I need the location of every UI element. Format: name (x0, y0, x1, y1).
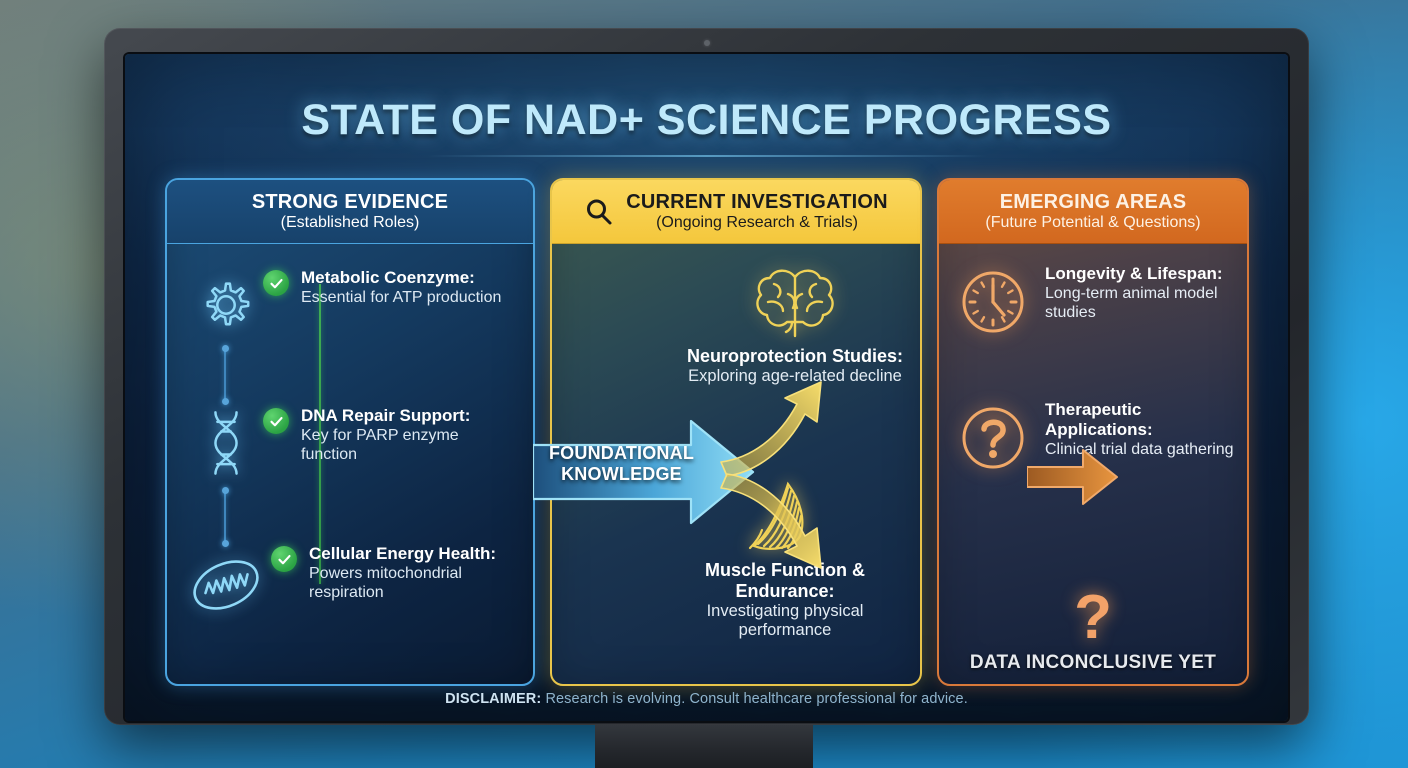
column-current-heading: CURRENT INVESTIGATION (626, 191, 888, 213)
clock-icon (955, 264, 1031, 340)
inconclusive-block: ? DATA INCONCLUSIVE YET (939, 590, 1247, 674)
monitor-frame: STATE OF NAD+ SCIENCE PROGRESS STRONG EV… (104, 28, 1309, 725)
check-icon (263, 270, 289, 296)
evidence-text: Metabolic Coenzyme: Essential for ATP pr… (301, 268, 501, 307)
evidence-title: Metabolic Coenzyme: (301, 268, 501, 288)
column-emerging-areas: EMERGING AREAS (Future Potential & Quest… (937, 178, 1249, 686)
title-block: STATE OF NAD+ SCIENCE PROGRESS (125, 96, 1288, 157)
disclaimer-prefix: DISCLAIMER: (445, 691, 541, 707)
dna-helix-icon (189, 406, 263, 480)
evidence-text: Cellular Energy Health: Powers mitochond… (309, 544, 531, 602)
question-circle-icon (955, 400, 1031, 476)
disclaimer-text: Research is evolving. Consult healthcare… (541, 691, 968, 707)
monitor-stand (595, 725, 813, 768)
column-current-header: CURRENT INVESTIGATION (Ongoing Research … (552, 180, 920, 244)
check-icon (271, 546, 297, 572)
column-strong-evidence: STRONG EVIDENCE (Established Roles) (165, 178, 535, 686)
evidence-desc: Key for PARP enzyme function (301, 426, 516, 464)
evidence-desc: Powers mitochondrial respiration (309, 564, 531, 602)
screen: STATE OF NAD+ SCIENCE PROGRESS STRONG EV… (125, 54, 1288, 721)
gear-icon (189, 268, 263, 342)
evidence-item-dna-repair: DNA Repair Support: Key for PARP enzyme … (189, 406, 516, 480)
foundational-knowledge-label: FOUNDATIONALKNOWLEDGE (539, 443, 704, 485)
column-strong-heading: STRONG EVIDENCE (252, 191, 448, 213)
emerging-title: Longevity & Lifespan: (1045, 264, 1247, 284)
column-emerging-header: EMERGING AREAS (Future Potential & Quest… (939, 180, 1247, 244)
column-strong-body: Metabolic Coenzyme: Essential for ATP pr… (167, 244, 533, 688)
emerging-desc: Long-term animal model studies (1045, 284, 1247, 322)
brain-icon (680, 254, 910, 340)
evidence-desc: Essential for ATP production (301, 288, 501, 307)
column-strong-header: STRONG EVIDENCE (Established Roles) (167, 180, 533, 244)
column-current-subheading: (Ongoing Research & Trials) (626, 214, 888, 232)
icon-connector-1 (224, 348, 226, 402)
emerging-item-longevity: Longevity & Lifespan: Long-term animal m… (955, 264, 1247, 340)
foundational-line-1: KNOWLEDGE (539, 464, 704, 485)
investigation-title: Neuroprotection Studies: (680, 346, 910, 367)
investigation-item-neuroprotection: Neuroprotection Studies: Exploring age-r… (680, 254, 910, 386)
column-emerging-subheading: (Future Potential & Questions) (985, 214, 1200, 232)
webcam-dot (704, 40, 710, 46)
evidence-text: DNA Repair Support: Key for PARP enzyme … (301, 406, 516, 464)
evidence-item-cellular-energy: Cellular Energy Health: Powers mitochond… (185, 544, 531, 626)
mitochondria-icon (185, 544, 267, 626)
evidence-title: Cellular Energy Health: (309, 544, 531, 564)
inconclusive-label: DATA INCONCLUSIVE YET (939, 652, 1247, 674)
evidence-title: DNA Repair Support: (301, 406, 516, 426)
emerging-text: Longevity & Lifespan: Long-term animal m… (1045, 264, 1247, 322)
foundational-line-0: FOUNDATIONAL (539, 443, 704, 464)
disclaimer: DISCLAIMER: Research is evolving. Consul… (125, 691, 1288, 707)
evidence-item-metabolic: Metabolic Coenzyme: Essential for ATP pr… (189, 268, 501, 342)
fork-arrows-icon (717, 376, 927, 576)
icon-connector-2 (224, 490, 226, 544)
page-title: STATE OF NAD+ SCIENCE PROGRESS (125, 96, 1288, 145)
column-strong-subheading: (Established Roles) (281, 214, 420, 232)
title-divider (427, 155, 987, 157)
column-emerging-heading: EMERGING AREAS (1000, 191, 1187, 213)
transition-arrow-icon (1027, 446, 1119, 508)
magnifying-glass-icon (584, 197, 614, 227)
investigation-desc: Investigating physical performance (670, 602, 900, 641)
question-mark-icon: ? (939, 590, 1247, 646)
emerging-title: Therapeutic Applications: (1045, 400, 1247, 440)
check-icon (263, 408, 289, 434)
